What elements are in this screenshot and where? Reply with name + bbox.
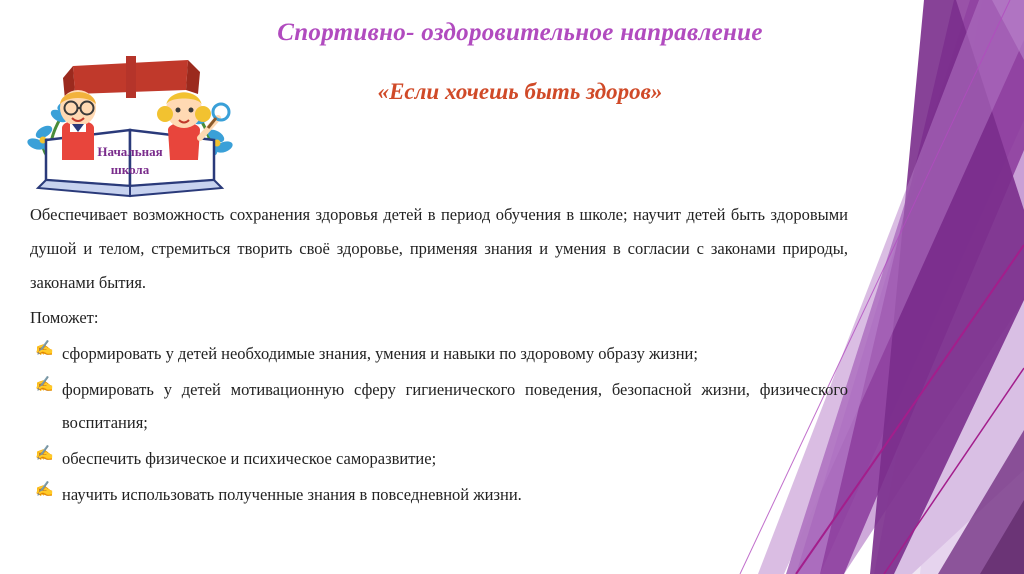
pen-bullet-icon: ✍: [35, 445, 53, 463]
body-lead: Поможет:: [30, 301, 848, 335]
list-item-text: сформировать у детей необходимые знания,…: [62, 337, 848, 370]
list-item-text: формировать у детей мотивационную сферу …: [62, 373, 848, 439]
list-item-text: научить использовать полученные знания в…: [62, 478, 848, 511]
pen-bullet-icon: ✍: [35, 340, 53, 358]
slide-subtitle: «Если хочешь быть здоров»: [180, 78, 860, 106]
pen-bullet-icon: ✍: [35, 481, 53, 499]
book-text-line1: Начальная: [97, 144, 162, 159]
book-text-line2: школа: [111, 162, 150, 177]
pen-bullet-icon: ✍: [35, 376, 53, 394]
list-item: ✍ обеспечить физическое и психическое са…: [30, 442, 848, 475]
list-item: ✍ сформировать у детей необходимые знани…: [30, 337, 848, 370]
slide-body: Обеспечивает возможность сохранения здор…: [30, 198, 848, 514]
bullet-list: ✍ сформировать у детей необходимые знани…: [30, 337, 848, 511]
slide: Начальная школа: [0, 0, 1024, 574]
slide-title: Спортивно- оздоровительное направление: [180, 18, 860, 48]
title-block: Спортивно- оздоровительное направление «…: [180, 18, 860, 106]
list-item: ✍ формировать у детей мотивационную сфер…: [30, 373, 848, 439]
list-item: ✍ научить использовать полученные знания…: [30, 478, 848, 511]
list-item-text: обеспечить физическое и психическое само…: [62, 442, 848, 475]
body-paragraph: Обеспечивает возможность сохранения здор…: [30, 198, 848, 299]
